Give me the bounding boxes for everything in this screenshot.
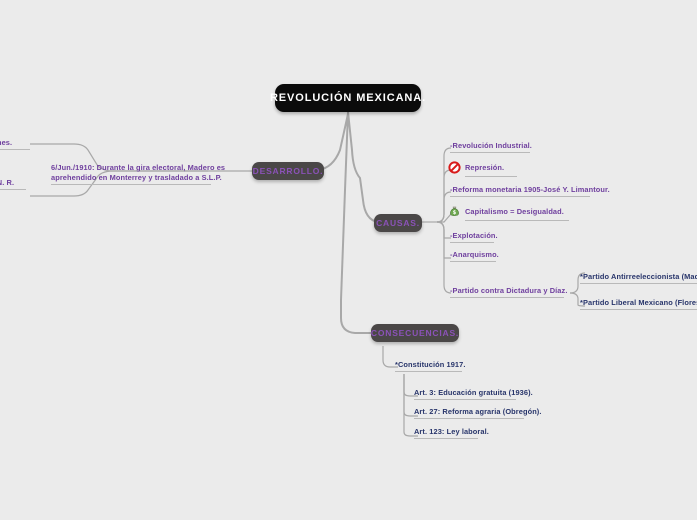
leaf-underline [0,189,26,190]
money-bag-icon: $ [448,205,461,218]
branch-node-consecuencias[interactable]: CONSECUENCIAS. [371,324,459,342]
leaf-underline [51,184,211,185]
leaf-label: -Explotación. [450,231,498,240]
leaf-underline [450,261,496,262]
branch-label-consecuencias: CONSECUENCIAS. [371,328,459,338]
leaf-label: *Constitución 1917. [395,360,465,369]
list-item[interactable]: *Constitución 1917. [395,360,465,372]
leaf-underline [414,418,524,419]
leaf-label: -Anarquismo. [450,250,499,259]
list-item[interactable]: Art. 27: Reforma agraria (Obregón). [414,407,542,419]
leaf-underline [0,149,30,150]
leaf-label: ciones. [0,138,12,147]
leaf-underline [450,242,494,243]
prohibition-icon [448,161,461,174]
list-item[interactable]: -Revolución Industrial. [450,141,532,153]
leaf-underline [414,438,478,439]
branch-node-desarrollo[interactable]: DESARROLLO. [252,162,324,180]
leaf-underline [465,220,569,221]
leaf-label: Capitalismo = Desigualdad. [465,207,564,217]
leaf-label: Art. 123: Ley laboral. [414,427,489,436]
branch-node-causas[interactable]: CAUSAS. [374,214,422,232]
leaf-label: o N. R. [0,178,14,187]
list-item[interactable]: -Anarquismo. [450,250,499,262]
leaf-label: *Partido Liberal Mexicano (Flores Mag [580,298,697,307]
leaf-underline [414,399,516,400]
leaf-underline [450,196,590,197]
list-item[interactable]: Art. 123: Ley laboral. [414,427,489,439]
leaf-label: -Revolución Industrial. [450,141,532,150]
leaf-label: *Partido Antirreeleccionista (Madero) [580,272,697,281]
list-item[interactable]: -Partido contra Dictadura y Díaz. [450,286,567,298]
leaf-underline [580,283,697,284]
leaf-underline [395,371,462,372]
leaf-underline [465,176,517,177]
mindmap-canvas: REVOLUCIÓN MEXICANA. DESARROLLO. CAUSAS.… [0,0,697,520]
list-item[interactable]: *Partido Antirreeleccionista (Madero) [580,272,697,284]
leaf-label: Art. 27: Reforma agraria (Obregón). [414,407,542,416]
svg-text:$: $ [453,210,457,216]
root-node-label: REVOLUCIÓN MEXICANA. [270,92,426,104]
list-item[interactable]: $ Capitalismo = Desigualdad. [448,205,569,221]
list-item[interactable]: *Partido Liberal Mexicano (Flores Mag [580,298,697,310]
list-item[interactable]: Art. 3: Educación gratuita (1936). [414,388,533,400]
list-item[interactable]: Represión. [448,161,517,177]
leaf-underline [580,309,697,310]
connector-lines [0,0,697,520]
leaf-underline [450,152,530,153]
list-item[interactable]: -Explotación. [450,231,498,243]
leaf-label: Represión. [465,163,504,173]
branch-label-causas: CAUSAS. [376,218,420,228]
branch-label-desarrollo: DESARROLLO. [253,166,324,176]
leaf-label: Art. 3: Educación gratuita (1936). [414,388,533,397]
list-item[interactable]: ciones. [0,138,30,150]
root-node[interactable]: REVOLUCIÓN MEXICANA. [275,84,421,112]
leaf-label: 6/Jun./1910: Durante la gira electoral, … [51,163,225,182]
leaf-label: -Partido contra Dictadura y Díaz. [450,286,567,295]
list-item[interactable]: 6/Jun./1910: Durante la gira electoral, … [51,153,225,195]
list-item[interactable]: -Reforma monetaria 1905-José Y. Limantou… [450,185,610,197]
list-item[interactable]: o N. R. [0,178,26,190]
leaf-label: -Reforma monetaria 1905-José Y. Limantou… [450,185,610,194]
leaf-underline [450,297,564,298]
